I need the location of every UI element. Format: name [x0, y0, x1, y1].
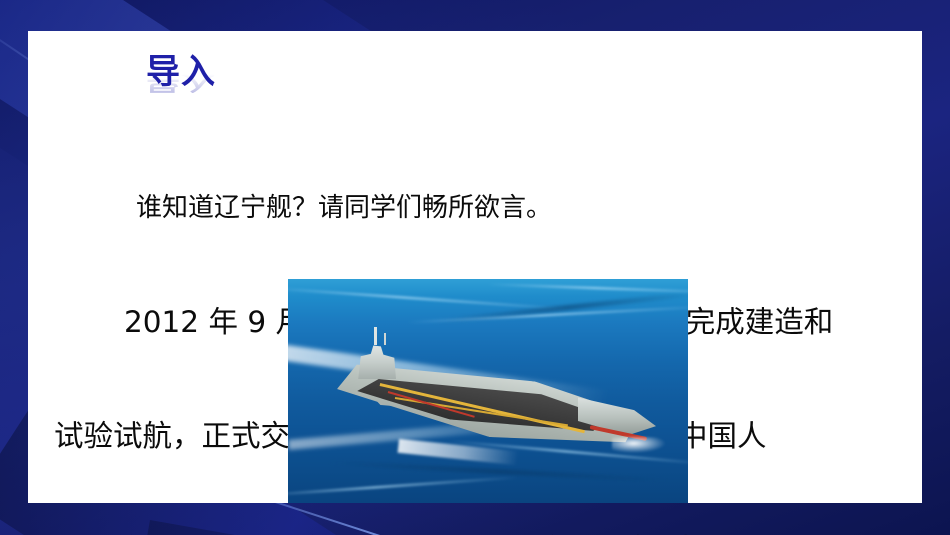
aircraft-carrier [340, 341, 640, 433]
liaoning-aircraft-carrier-photo [288, 279, 688, 503]
page-title: 导入 [146, 55, 216, 89]
ship-mast [374, 327, 377, 345]
bow-spray [612, 437, 666, 453]
slide: 导入 导入 谁知道辽宁舰？请同学们畅所欲言。 2012 年 9 月 25 日，我… [0, 0, 950, 535]
body-line-1: 谁知道辽宁舰？请同学们畅所欲言。 [54, 189, 906, 227]
body-line-4: 民解放军辽宁舰”，舷号为 “ １６”。劈波斩浪，捍卫 [54, 531, 906, 535]
content-panel: 导入 导入 谁知道辽宁舰？请同学们畅所欲言。 2012 年 9 月 25 日，我… [28, 31, 922, 503]
ship-island-superstructure [354, 341, 396, 379]
ship-mast-secondary [384, 333, 386, 345]
